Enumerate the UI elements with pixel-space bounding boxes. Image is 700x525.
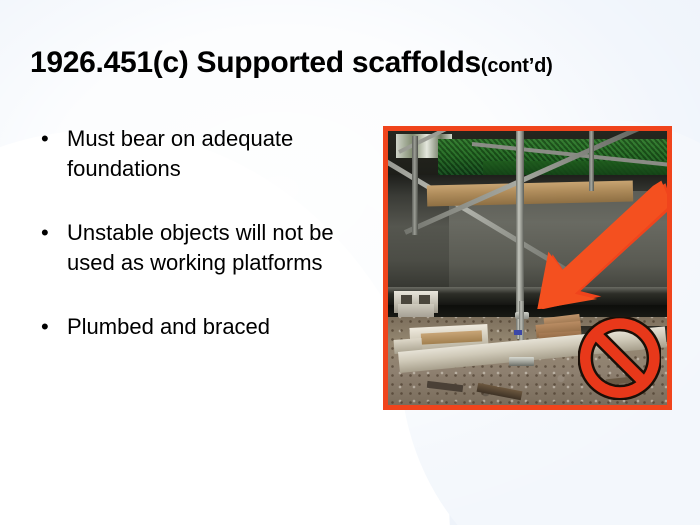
bullet-text: Must bear on adequate foundations: [67, 124, 368, 184]
list-item: • Must bear on adequate foundations: [38, 124, 368, 184]
list-item: • Unstable objects will not be used as w…: [38, 218, 368, 278]
prohibition-icon: [578, 317, 662, 399]
scaffold-photo-image: [388, 131, 667, 405]
photo-concrete-block-left-lower: [398, 304, 434, 318]
bullet-text: Unstable objects will not be used as wor…: [67, 218, 368, 278]
photo-scaffold-post-left: [412, 136, 418, 235]
bullet-list: • Must bear on adequate foundations • Un…: [38, 124, 368, 376]
bullet-marker-icon: •: [38, 312, 67, 342]
page-title-continued: (cont’d): [481, 55, 553, 77]
bullet-marker-icon: •: [38, 218, 67, 248]
slide: 1926.451(c) Supported scaffolds(cont’d) …: [0, 0, 700, 525]
scaffold-photo: [383, 126, 672, 410]
page-title-main: 1926.451(c) Supported scaffolds: [30, 46, 481, 79]
photo-debris-blue: [514, 330, 522, 335]
bullet-marker-icon: •: [38, 124, 67, 154]
page-title: 1926.451(c) Supported scaffolds(cont’d): [30, 46, 680, 80]
bullet-text: Plumbed and braced: [67, 312, 368, 342]
red-arrow-icon: [533, 178, 667, 310]
list-item: • Plumbed and braced: [38, 312, 368, 342]
photo-scaffold-base-plate: [509, 357, 534, 366]
